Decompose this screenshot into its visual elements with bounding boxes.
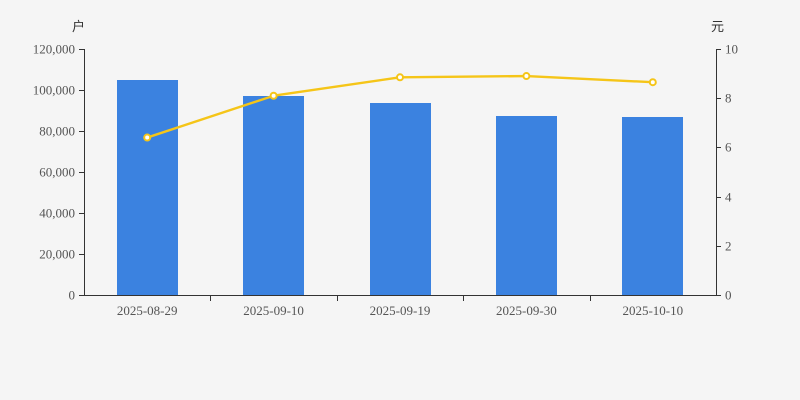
x-tick-label: 2025-09-30: [496, 303, 557, 319]
x-axis-line: [84, 295, 717, 296]
line-point-marker[interactable]: 2025-10-10: 8.65元: [650, 79, 656, 85]
right-axis-line: [716, 49, 717, 295]
left-axis-unit-label: 户: [72, 16, 85, 35]
right-tick-mark: [716, 98, 721, 99]
line-point-marker[interactable]: 2025-09-30: 8.9元: [523, 73, 529, 79]
bar[interactable]: [496, 116, 557, 295]
left-tick-mark: [79, 254, 84, 255]
left-tick-label: 0: [69, 289, 76, 302]
left-tick-label: 80,000: [39, 125, 75, 138]
bar[interactable]: [622, 117, 683, 295]
left-tick-mark: [79, 213, 84, 214]
bar[interactable]: [370, 103, 431, 295]
right-tick-label: 0: [725, 289, 732, 302]
right-tick-mark: [716, 49, 721, 50]
x-tick-label: 2025-09-10: [243, 303, 304, 319]
bar[interactable]: [117, 80, 178, 295]
x-tick-mark: [590, 296, 591, 301]
line-point-marker[interactable]: 2025-09-19: 8.85元: [397, 74, 403, 80]
left-tick-mark: [79, 172, 84, 173]
left-axis-line: [84, 49, 85, 296]
right-tick-mark: [716, 147, 721, 148]
right-tick-mark: [716, 246, 721, 247]
x-tick-label: 2025-08-29: [117, 303, 178, 319]
x-tick-mark: [210, 296, 211, 301]
right-tick-label: 10: [725, 43, 738, 56]
right-tick-label: 4: [725, 190, 732, 203]
left-tick-mark: [79, 131, 84, 132]
left-tick-mark: [79, 49, 84, 50]
right-tick-mark: [716, 295, 721, 296]
bar[interactable]: [243, 96, 304, 295]
left-tick-label: 40,000: [39, 207, 75, 220]
right-tick-label: 2: [725, 239, 732, 252]
left-tick-label: 100,000: [33, 84, 75, 97]
left-tick-label: 20,000: [39, 248, 75, 261]
left-tick-label: 120,000: [33, 43, 75, 56]
right-tick-label: 8: [725, 92, 732, 105]
right-tick-label: 6: [725, 141, 732, 154]
right-axis-unit-label: 元: [711, 16, 724, 35]
left-tick-mark: [79, 90, 84, 91]
right-tick-mark: [716, 197, 721, 198]
x-tick-label: 2025-09-19: [370, 303, 431, 319]
x-tick-mark: [337, 296, 338, 301]
left-tick-mark: [79, 295, 84, 296]
x-tick-label: 2025-10-10: [622, 303, 683, 319]
left-tick-label: 60,000: [39, 166, 75, 179]
x-tick-mark: [463, 296, 464, 301]
chart-container: 户 元 020,00040,00060,00080,000100,000120,…: [0, 0, 800, 400]
